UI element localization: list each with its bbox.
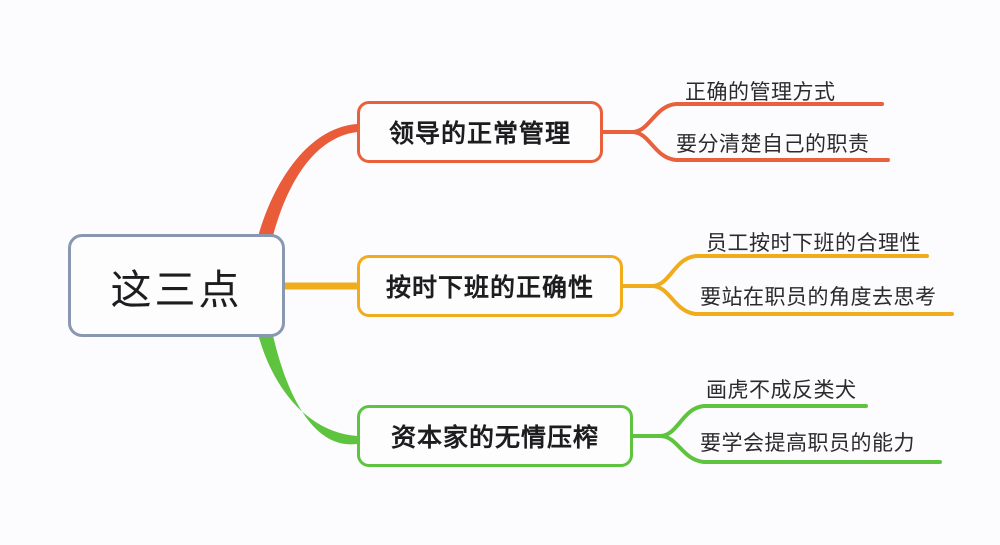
connector-root-to-branch-1 [258,124,357,240]
connector-root-to-branch-3 [258,331,357,444]
leaf-label-6[interactable]: 要学会提高职员的能力 [700,427,915,457]
branch-node-2[interactable]: 按时下班的正确性 [357,255,623,317]
branch-node-3[interactable]: 资本家的无情压榨 [357,405,633,467]
leaf-label-2[interactable]: 要分清楚自己的职责 [676,128,870,158]
leaf-label-3[interactable]: 员工按时下班的合理性 [706,227,921,257]
mindmap-canvas: 这三点 领导的正常管理 按时下班的正确性 资本家的无情压榨 正确的管理方式 要分… [0,0,1000,545]
leaf-label-4[interactable]: 要站在职员的角度去思考 [700,281,937,311]
leaf-label-1[interactable]: 正确的管理方式 [685,76,836,106]
leaf-label-5[interactable]: 画虎不成反类犬 [706,374,857,404]
root-node[interactable]: 这三点 [68,234,285,337]
branch-node-1[interactable]: 领导的正常管理 [357,101,603,163]
